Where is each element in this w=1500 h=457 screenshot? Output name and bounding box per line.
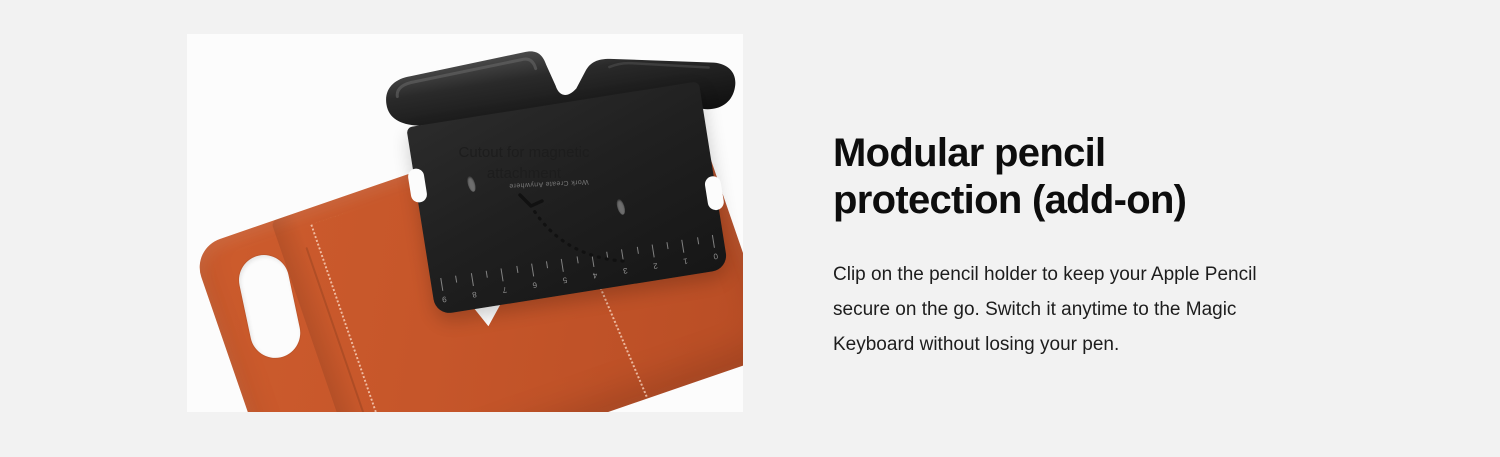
headline-line-1: Modular pencil bbox=[833, 131, 1105, 175]
text-column: Modular pencil protection (add-on) Clip … bbox=[833, 130, 1303, 362]
annotation-line-1: Cutout for magnetic bbox=[459, 144, 590, 161]
body-copy: Clip on the pencil holder to keep your A… bbox=[833, 257, 1303, 362]
promo-section: Work Create Anywhere Cutout for magnetic… bbox=[0, 0, 1500, 457]
ruler-tick-major bbox=[440, 278, 443, 291]
ruler-tick-major bbox=[652, 244, 655, 257]
ruler-tick-minor bbox=[637, 247, 639, 254]
annotation-line-2: attachment bbox=[487, 165, 561, 182]
page-title: Modular pencil protection (add-on) bbox=[833, 130, 1303, 224]
ruler-tick-major bbox=[712, 235, 715, 248]
ruler-tick-minor bbox=[456, 276, 458, 283]
annotation-callout: Cutout for magnetic attachment bbox=[434, 142, 614, 185]
ruler-tick-major bbox=[682, 240, 685, 253]
plate-side-notch bbox=[407, 167, 428, 203]
ruler-tick-major bbox=[471, 273, 474, 286]
ruler-tick-minor bbox=[486, 271, 488, 278]
ruler-tick-minor bbox=[667, 242, 669, 249]
product-image-panel: Work Create Anywhere Cutout for magnetic… bbox=[187, 34, 743, 412]
curved-dashed-arrow-icon bbox=[507, 189, 627, 274]
ruler-tick-minor bbox=[697, 237, 699, 244]
ruler-tick-major bbox=[501, 268, 504, 281]
plate-side-notch bbox=[704, 175, 725, 211]
headline-line-2: protection (add-on) bbox=[833, 177, 1303, 224]
